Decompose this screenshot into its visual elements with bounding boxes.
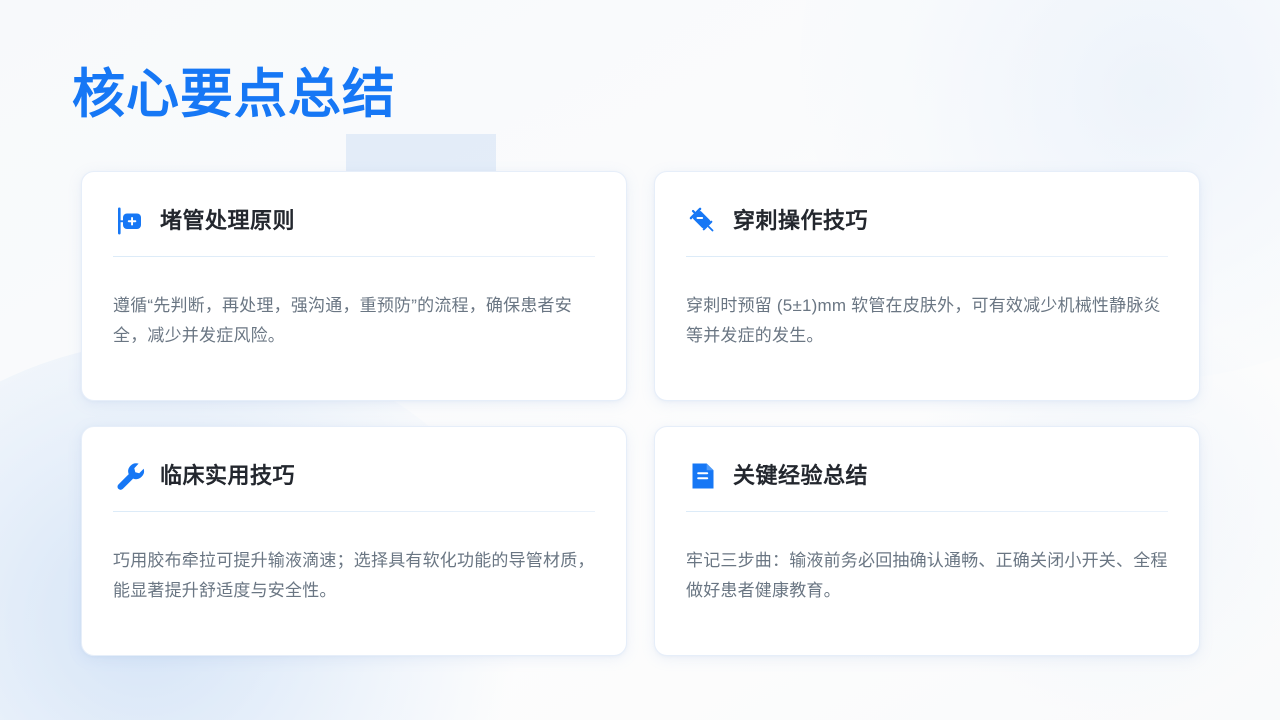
- card-divider: [113, 256, 595, 257]
- document-lines-icon: [686, 459, 720, 493]
- card-guanjian-jingyan-zongjie[interactable]: 关键经验总结 牢记三步曲：输液前务必回抽确认通畅、正确关闭小开关、全程做好患者健…: [654, 426, 1200, 656]
- card-grid: 堵管处理原则 遵循“先判断，再处理，强沟通，重预防”的流程，确保患者安全，减少并…: [81, 171, 1200, 656]
- card-title: 堵管处理原则: [160, 208, 295, 234]
- card-linchuang-shiyong-jiqiao[interactable]: 临床实用技巧 巧用胶布牵拉可提升输液滴速；选择具有软化功能的导管材质，能显著提升…: [81, 426, 627, 656]
- card-body: 巧用胶布牵拉可提升输液滴速；选择具有软化功能的导管材质，能显著提升舒适度与安全性…: [113, 546, 595, 607]
- card-header: 堵管处理原则: [113, 202, 595, 240]
- card-title: 关键经验总结: [733, 463, 868, 489]
- first-aid-plus-icon: [113, 204, 147, 238]
- card-chuanci-caozuo-jiqiao[interactable]: 穿刺操作技巧 穿刺时预留 (5±1)mm 软管在皮肤外，可有效减少机械性静脉炎等…: [654, 171, 1200, 401]
- card-header: 临床实用技巧: [113, 457, 595, 495]
- card-body: 穿刺时预留 (5±1)mm 软管在皮肤外，可有效减少机械性静脉炎等并发症的发生。: [686, 291, 1168, 352]
- card-header: 穿刺操作技巧: [686, 202, 1168, 240]
- syringe-icon: [686, 204, 720, 238]
- card-divider: [686, 511, 1168, 512]
- card-body: 牢记三步曲：输液前务必回抽确认通畅、正确关闭小开关、全程做好患者健康教育。: [686, 546, 1168, 607]
- slide-root: 核心要点总结 堵管处理原则 遵循“先判断，再处理，强沟通，重预防”的流程，确保患…: [0, 0, 1280, 720]
- decorative-rectangle: [346, 134, 496, 173]
- card-header: 关键经验总结: [686, 457, 1168, 495]
- page-title: 核心要点总结: [72, 64, 396, 127]
- card-body: 遵循“先判断，再处理，强沟通，重预防”的流程，确保患者安全，减少并发症风险。: [113, 291, 595, 352]
- wrench-icon: [113, 459, 147, 493]
- card-title: 穿刺操作技巧: [733, 208, 868, 234]
- card-divider: [686, 256, 1168, 257]
- card-divider: [113, 511, 595, 512]
- card-title: 临床实用技巧: [160, 463, 295, 489]
- card-duguan-chuli-yuanze[interactable]: 堵管处理原则 遵循“先判断，再处理，强沟通，重预防”的流程，确保患者安全，减少并…: [81, 171, 627, 401]
